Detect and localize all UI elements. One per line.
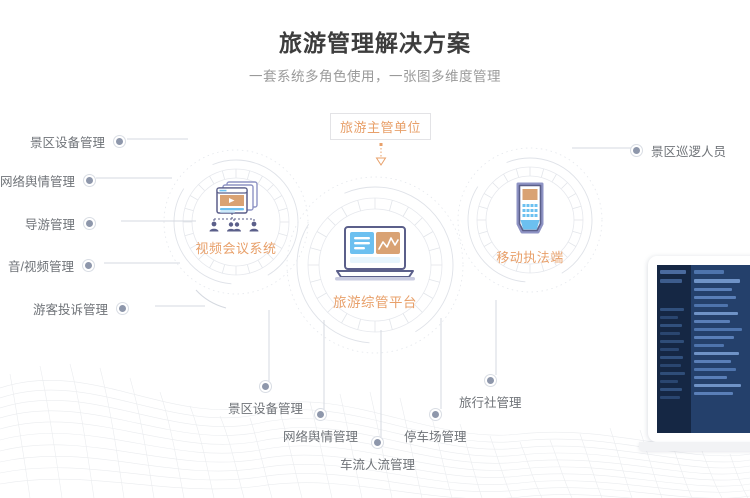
solution-infographic: 旅游管理解决方案 一套系统多角色使用，一张图多维度管理 旅游主管单位 xyxy=(0,0,750,498)
node-label-video-conference: 视频会议系统 xyxy=(195,238,276,257)
page-subtitle: 一套系统多角色使用，一张图多维度管理 xyxy=(0,65,750,85)
endpoint-label: 景区设备管理 xyxy=(30,132,105,151)
endpoint-dot-icon xyxy=(631,145,642,156)
endpoint-dot-icon xyxy=(84,218,95,229)
endpoint-bottom-4[interactable]: 停车场管理 xyxy=(404,409,467,445)
endpoint-dot-icon xyxy=(83,260,94,271)
node-video-conference[interactable]: 视频会议系统 xyxy=(186,178,286,257)
node-label-mobile-enforcement: 移动执法端 xyxy=(496,247,564,266)
endpoint-left-1[interactable]: 景区设备管理 xyxy=(30,132,125,151)
endpoint-label: 导游管理 xyxy=(25,214,75,233)
endpoint-right-1[interactable]: 景区巡逻人员 xyxy=(631,141,726,160)
endpoint-label: 网络舆情管理 xyxy=(0,171,75,190)
laptop-screen xyxy=(657,265,750,433)
endpoint-dot-icon xyxy=(485,375,496,386)
laptop-bezel xyxy=(648,256,750,442)
mockup-sidebar xyxy=(657,265,691,433)
authority-box[interactable]: 旅游主管单位 xyxy=(330,113,431,140)
endpoint-dot-icon xyxy=(260,381,271,392)
endpoint-dot-icon xyxy=(315,409,326,420)
endpoint-label: 旅行社管理 xyxy=(459,392,522,411)
laptop-dashboard-icon xyxy=(329,225,421,283)
endpoint-left-4[interactable]: 音/视频管理 xyxy=(8,256,94,275)
endpoint-label: 景区巡逻人员 xyxy=(651,141,726,160)
endpoint-left-2[interactable]: 网络舆情管理 xyxy=(0,171,95,190)
endpoint-label: 音/视频管理 xyxy=(8,256,74,275)
endpoint-left-3[interactable]: 导游管理 xyxy=(25,214,95,233)
endpoint-left-5[interactable]: 游客投诉管理 xyxy=(33,299,128,318)
node-tourism-platform[interactable]: 旅游综管平台 xyxy=(310,225,440,311)
video-conference-icon xyxy=(203,178,269,232)
node-label-tourism-platform: 旅游综管平台 xyxy=(333,291,417,311)
endpoint-dot-icon xyxy=(84,175,95,186)
laptop-base xyxy=(639,442,750,451)
endpoint-label: 游客投诉管理 xyxy=(33,299,108,318)
node-mobile-enforcement[interactable]: 移动执法端 xyxy=(480,180,580,266)
dotted-down-arrow-icon xyxy=(372,143,390,167)
endpoint-label: 停车场管理 xyxy=(404,426,467,445)
endpoint-bottom-5[interactable]: 旅行社管理 xyxy=(459,375,522,411)
page-title: 旅游管理解决方案 xyxy=(0,24,750,58)
endpoint-dot-icon xyxy=(117,303,128,314)
endpoint-label: 车流人流管理 xyxy=(340,454,415,473)
laptop-dashboard-mockup xyxy=(648,256,750,468)
wave-mesh-background xyxy=(0,348,750,498)
mobile-device-icon xyxy=(506,180,554,240)
endpoint-dot-icon xyxy=(372,437,383,448)
endpoint-dot-icon xyxy=(430,409,441,420)
endpoint-dot-icon xyxy=(114,136,125,147)
mockup-content-area xyxy=(691,265,750,433)
